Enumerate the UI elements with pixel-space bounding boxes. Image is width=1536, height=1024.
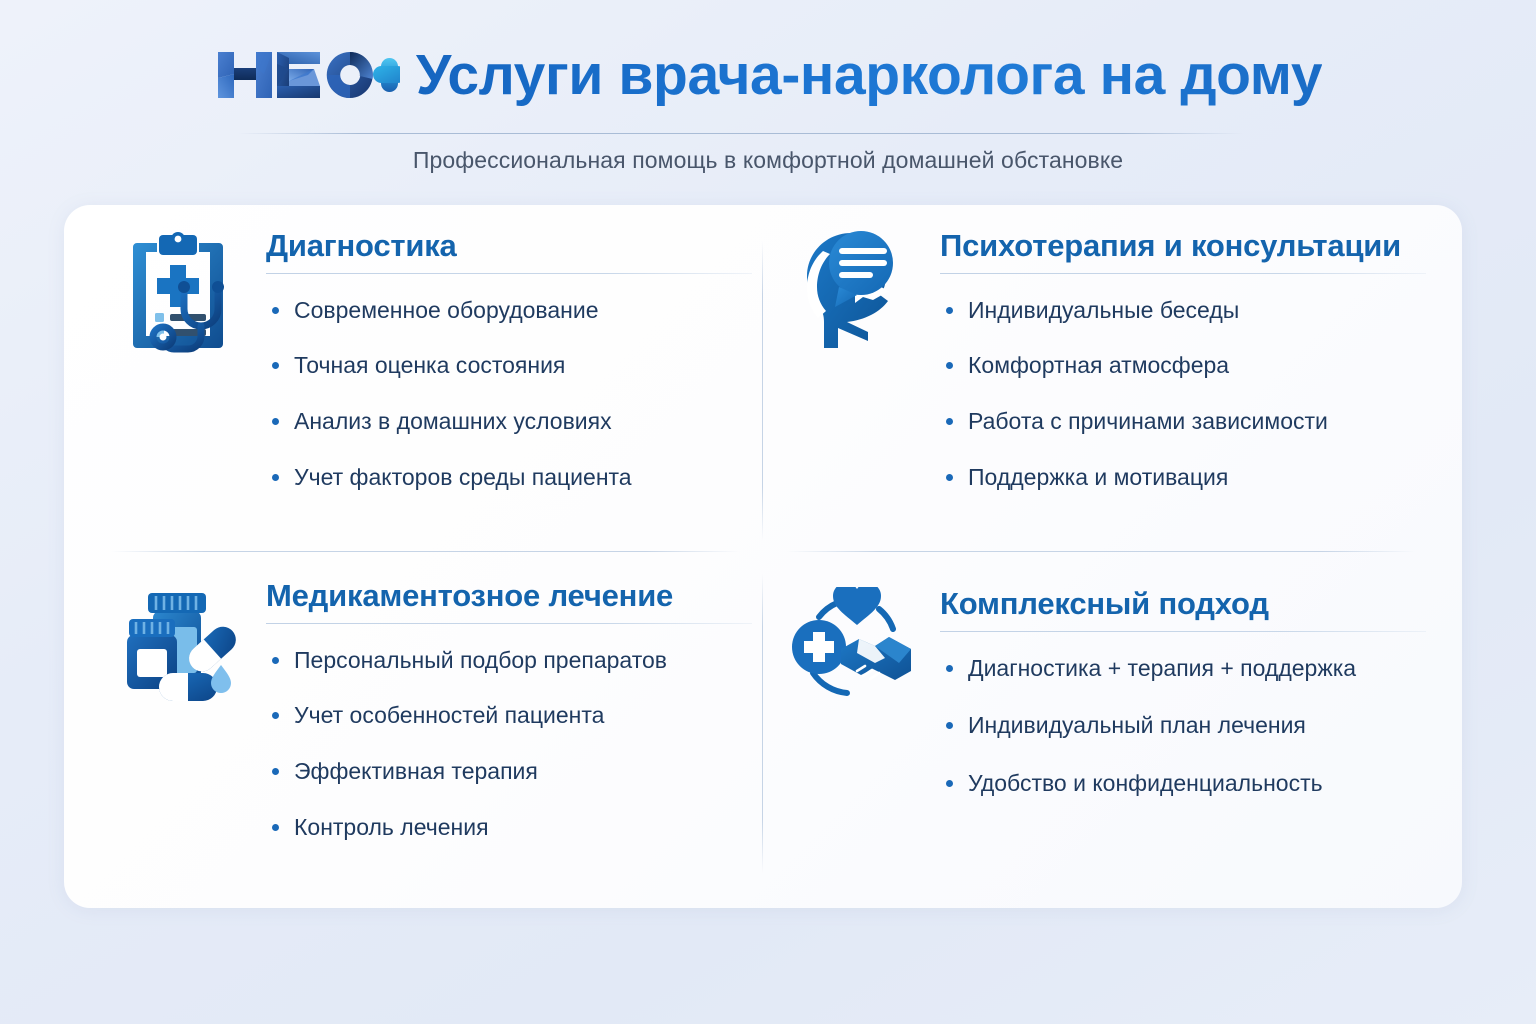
card-title: Диагностика xyxy=(266,229,752,264)
list-item: Эффективная терапия xyxy=(266,757,752,786)
page-title: Услуги врача-нарколога на дому xyxy=(416,42,1322,108)
header-title-row: Услуги врача-нарколога на дому xyxy=(0,42,1536,108)
clipboard-stethoscope-icon xyxy=(112,221,244,367)
horizontal-divider-right xyxy=(786,551,1416,552)
infographic-page: Услуги врача-нарколога на дому Профессио… xyxy=(0,0,1536,1024)
list-item: Учет факторов среды пациента xyxy=(266,463,752,492)
list-item: Анализ в домашних условиях xyxy=(266,407,752,436)
list-item: Персональный подбор препаратов xyxy=(266,646,752,675)
card-title: Психотерапия и консультации xyxy=(940,229,1426,264)
head-speech-bubble-icon xyxy=(786,221,918,367)
vertical-divider-bottom xyxy=(762,573,763,873)
card-bullet-list: Диагностика + терапия + поддержка Индиви… xyxy=(940,632,1426,798)
title-divider xyxy=(238,133,1243,134)
card-body: Психотерапия и консультации Индивидуальн… xyxy=(940,221,1426,492)
pills-bottles-icon xyxy=(112,571,244,727)
card-body: Комплексный подход Диагностика + терапия… xyxy=(940,571,1426,827)
list-item: Индивидуальный план лечения xyxy=(940,711,1426,740)
header: Услуги врача-нарколога на дому Профессио… xyxy=(0,0,1536,205)
card-bullet-list: Современное оборудование Точная оценка с… xyxy=(266,274,752,492)
service-card-psychotherapy[interactable]: Психотерапия и консультации Индивидуальн… xyxy=(786,221,1426,492)
service-card-diagnostics[interactable]: Диагностика Современное оборудование Точ… xyxy=(112,221,752,492)
list-item: Поддержка и мотивация xyxy=(940,463,1426,492)
list-item: Работа с причинами зависимости xyxy=(940,407,1426,436)
card-body: Медикаментозное лечение Персональный под… xyxy=(266,571,752,842)
service-card-medication[interactable]: Медикаментозное лечение Персональный под… xyxy=(112,571,752,842)
vertical-divider-top xyxy=(762,241,763,541)
list-item: Учет особенностей пациента xyxy=(266,701,752,730)
service-card-complex-approach[interactable]: Комплексный подход Диагностика + терапия… xyxy=(786,571,1426,827)
list-item: Диагностика + терапия + поддержка xyxy=(940,654,1426,683)
services-panel: Диагностика Современное оборудование Точ… xyxy=(64,205,1462,908)
card-body: Диагностика Современное оборудование Точ… xyxy=(266,221,752,492)
horizontal-divider-left xyxy=(110,551,740,552)
list-item: Контроль лечения xyxy=(266,813,752,842)
page-subtitle: Профессиональная помощь в комфортной дом… xyxy=(0,147,1536,174)
list-item: Точная оценка состояния xyxy=(266,351,752,380)
card-title: Медикаментозное лечение xyxy=(266,579,752,614)
card-bullet-list: Индивидуальные беседы Комфортная атмосфе… xyxy=(940,274,1426,492)
neo-plus-logo xyxy=(214,44,400,106)
card-bullet-list: Персональный подбор препаратов Учет особ… xyxy=(266,624,752,842)
handshake-heart-cross-icon xyxy=(786,571,918,727)
list-item: Современное оборудование xyxy=(266,296,752,325)
card-title: Комплексный подход xyxy=(940,587,1426,622)
list-item: Комфортная атмосфера xyxy=(940,351,1426,380)
list-item: Индивидуальные беседы xyxy=(940,296,1426,325)
list-item: Удобство и конфиденциальность xyxy=(940,769,1426,798)
